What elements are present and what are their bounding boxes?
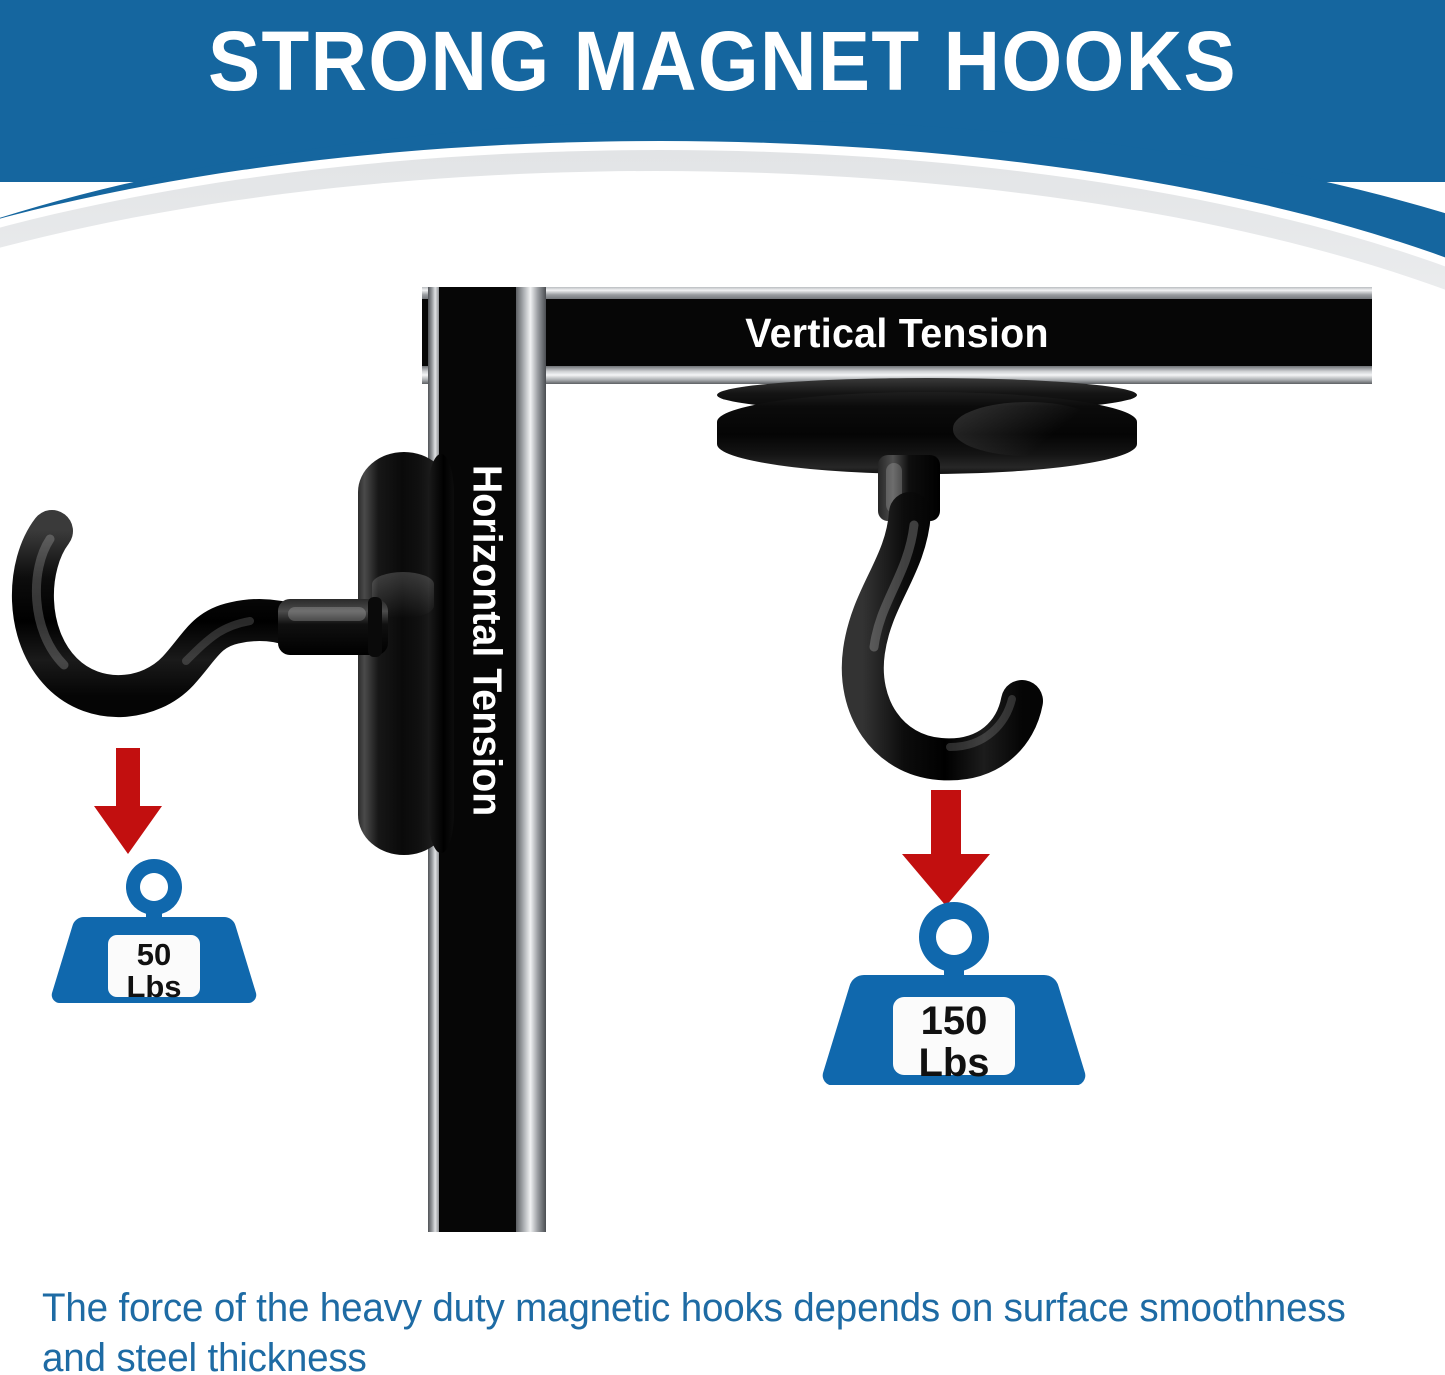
horizontal-arrow-down-icon bbox=[92, 748, 164, 856]
vertical-tension-bar: Vertical Tension bbox=[422, 287, 1372, 384]
magnet-disc-top-highlight bbox=[953, 402, 1103, 456]
weight-icon-horizontal: 50 Lbs bbox=[48, 855, 260, 1003]
vertical-arrow-down-icon bbox=[900, 790, 992, 908]
weight-label-50: 50 Lbs bbox=[48, 939, 260, 1003]
vertical-hook-icon bbox=[800, 455, 1120, 825]
weight-label-150: 150 Lbs bbox=[818, 1001, 1090, 1084]
product-infographic: STRONG MAGNET HOOKS Vertical Tension Hor… bbox=[0, 0, 1445, 1375]
page-title: STRONG MAGNET HOOKS bbox=[51, 19, 1395, 103]
magnet-disc-face bbox=[428, 454, 454, 853]
horizontal-hook-icon bbox=[10, 495, 420, 755]
caption-text: The force of the heavy duty magnetic hoo… bbox=[42, 1283, 1354, 1375]
vertical-tension-label: Vertical Tension bbox=[441, 299, 1353, 367]
weight-icon-vertical: 150 Lbs bbox=[818, 897, 1090, 1085]
header-banner: STRONG MAGNET HOOKS bbox=[0, 0, 1445, 300]
wall-bar-right-edge bbox=[516, 287, 546, 1232]
